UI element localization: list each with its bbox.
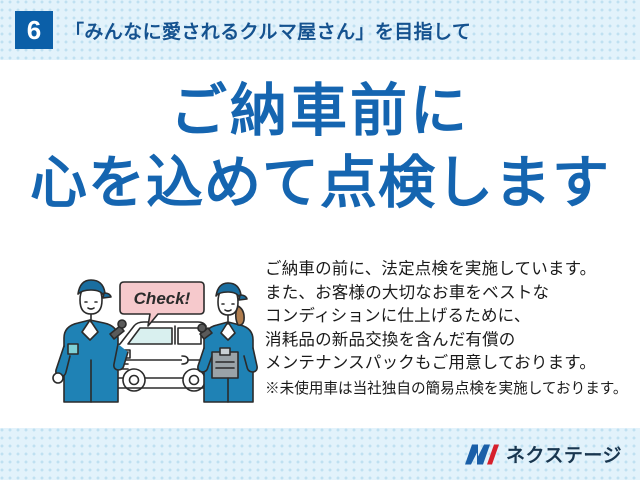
section-number-badge: 6 bbox=[15, 11, 53, 49]
footer-band: ネクステージ bbox=[0, 428, 640, 480]
body-line-2: また、お客様の大切なお車をベストな bbox=[265, 282, 635, 306]
header-band: 6 「みんなに愛されるクルマ屋さん」を目指して bbox=[0, 0, 640, 60]
body-line-3: コンディションに仕上げるために、 bbox=[265, 305, 635, 329]
headline: ご納車前に 心を込めて点検します bbox=[0, 78, 640, 216]
van-graphic bbox=[114, 322, 206, 391]
mechanics-illustration: Check! bbox=[52, 260, 262, 410]
check-bubble-text: Check! bbox=[134, 289, 191, 308]
content-area: Check! ご納車の前に、法定点検を実施しています。 また、お客様の大切なお車… bbox=[0, 252, 640, 422]
body-line-1: ご納車の前に、法定点検を実施しています。 bbox=[265, 258, 635, 282]
body-line-4: 消耗品の新品交換を含んだ有償の bbox=[265, 329, 635, 353]
brand-lockup: ネクステージ bbox=[465, 441, 622, 468]
mechanic-right-graphic bbox=[198, 283, 257, 402]
mechanic-left-graphic bbox=[53, 280, 128, 402]
headline-line-2: 心を込めて点検します bbox=[0, 150, 640, 216]
body-line-5: メンテナンスパックもご用意しております。 bbox=[265, 352, 635, 376]
brand-name: ネクステージ bbox=[506, 441, 622, 468]
body-copy: ご納車の前に、法定点検を実施しています。 また、お客様の大切なお車をベストな コ… bbox=[265, 258, 635, 401]
body-note: ※未使用車は当社独自の簡易点検を実施しております。 bbox=[265, 378, 635, 401]
advertisement-page: 6 「みんなに愛されるクルマ屋さん」を目指して ご納車前に 心を込めて点検します bbox=[0, 0, 640, 480]
header-title: 「みんなに愛されるクルマ屋さん」を目指して bbox=[65, 17, 471, 44]
headline-line-1: ご納車前に bbox=[0, 78, 640, 144]
nexstage-n-logo-icon bbox=[465, 443, 499, 465]
